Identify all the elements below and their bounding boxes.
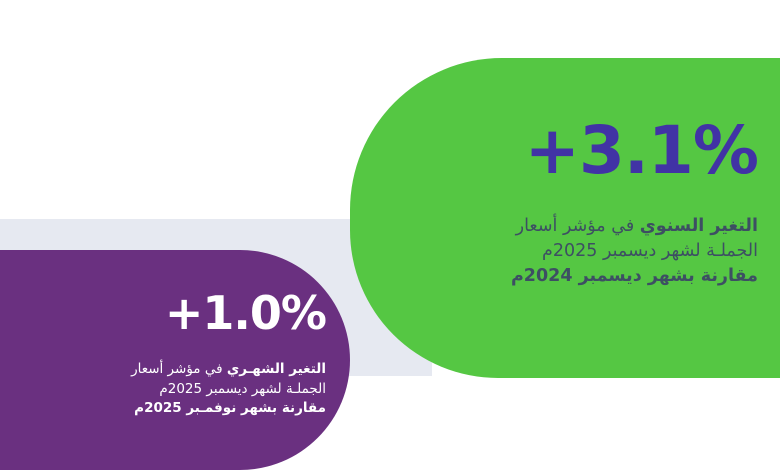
infographic-canvas: +3.1% التغير السنوي في مؤشر أسعار الجملـ… xyxy=(0,0,780,470)
annual-change-caption: التغير السنوي في مؤشر أسعار الجملـة لشهر… xyxy=(380,214,758,289)
monthly-change-card: +1.0% التغير الشهـري في مؤشر أسعار الجمل… xyxy=(0,250,350,470)
monthly-caption-line-1-bold: التغير الشهـري xyxy=(227,361,326,377)
annual-caption-line-2: الجملـة لشهر ديسمبر 2025م xyxy=(388,239,758,264)
annual-caption-line-1: التغير السنوي في مؤشر أسعار xyxy=(388,214,758,239)
annual-change-figure: +3.1% xyxy=(380,118,758,184)
annual-caption-line-3: مقارنة بشهر ديسمبر 2024م xyxy=(388,264,758,289)
annual-caption-line-1-bold: التغير السنوي xyxy=(640,216,758,236)
monthly-caption-line-1-regular: في مؤشر أسعار xyxy=(131,361,227,377)
monthly-change-figure: +1.0% xyxy=(20,290,326,336)
monthly-caption-line-1: التغير الشهـري في مؤشر أسعار xyxy=(54,360,326,380)
monthly-change-caption: التغير الشهـري في مؤشر أسعار الجملـة لشه… xyxy=(20,360,326,419)
annual-caption-line-1-regular: في مؤشر أسعار xyxy=(516,216,640,236)
annual-change-card: +3.1% التغير السنوي في مؤشر أسعار الجملـ… xyxy=(350,58,780,378)
monthly-caption-line-2: الجملـة لشهر ديسمبر 2025م xyxy=(54,380,326,400)
monthly-caption-line-3: مقارنة بشهر نوفمـبر 2025م xyxy=(54,399,326,419)
